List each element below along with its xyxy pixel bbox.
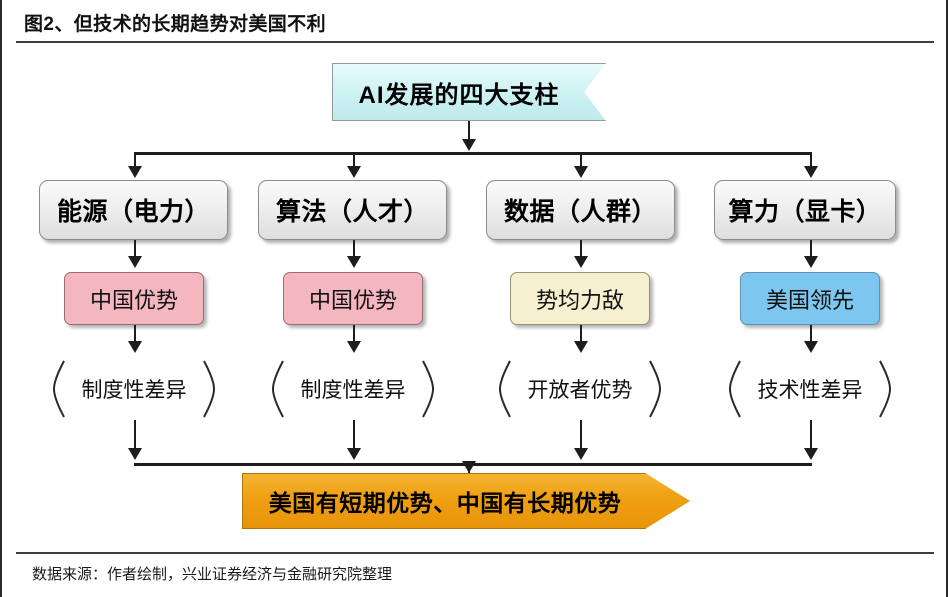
root-stem-arrow-icon [462, 139, 476, 151]
reason-to-bus-arrow-1-icon [128, 448, 142, 460]
conclusion-banner[interactable]: 美国有短期优势、中国有长期优势 [242, 473, 690, 529]
header-divider [16, 41, 934, 43]
reason-label-2: 制度性差异 [301, 374, 406, 404]
reason-to-bus-arrow-3-icon [574, 448, 588, 460]
conclusion-banner-label: 美国有短期优势、中国有长期优势 [269, 484, 622, 518]
pillar-label-1: 能源（电力） [57, 192, 210, 228]
reason-to-bus-arrow-4-icon [804, 448, 818, 460]
status-box-1[interactable]: 中国优势 [64, 272, 204, 325]
reason-bracket-2: 制度性差异 [269, 360, 437, 418]
drop-arrow-3-icon [574, 166, 588, 178]
footer-divider [16, 552, 934, 554]
figure-container: 图2、但技术的长期趋势对美国不利 AI发展的四大支柱 能源（电力） 中国优势 [0, 0, 948, 597]
pillar-label-3: 数据（人群） [504, 192, 657, 228]
reason-label-4: 技术性差异 [758, 374, 863, 404]
status-to-reason-arrow-1-icon [128, 341, 142, 353]
status-label-2: 中国优势 [309, 283, 397, 315]
pillar-label-2: 算法（人才） [276, 192, 429, 228]
angle-bracket-right-icon-3 [648, 360, 664, 418]
pillar-box-2[interactable]: 算法（人才） [258, 180, 447, 240]
reason-label-1: 制度性差异 [82, 374, 187, 404]
pillar-label-4: 算力（显卡） [728, 192, 881, 228]
root-banner-label: AI发展的四大支柱 [359, 75, 560, 110]
angle-bracket-right-icon-4 [878, 360, 894, 418]
pillar-to-status-arrow-4-icon [804, 256, 818, 268]
status-box-4[interactable]: 美国领先 [740, 272, 880, 325]
reason-bracket-1: 制度性差异 [50, 360, 218, 418]
root-banner[interactable]: AI发展的四大支柱 [332, 63, 606, 121]
status-to-reason-arrow-3-icon [574, 341, 588, 353]
drop-arrow-1-icon [128, 166, 142, 178]
pillar-box-4[interactable]: 算力（显卡） [714, 180, 896, 240]
status-label-1: 中国优势 [90, 283, 178, 315]
reason-to-bus-arrow-2-icon [347, 448, 361, 460]
pillar-box-3[interactable]: 数据（人群） [486, 180, 675, 240]
page-title: 图2、但技术的长期趋势对美国不利 [24, 9, 326, 36]
reason-to-bus-line-1 [134, 420, 136, 450]
reason-bracket-4: 技术性差异 [726, 360, 894, 418]
reason-label-3: 开放者优势 [528, 374, 633, 404]
diagram-canvas: AI发展的四大支柱 能源（电力） 中国优势 制度性差异 [2, 44, 946, 550]
status-box-3[interactable]: 势均力敌 [510, 272, 650, 325]
figure-header: 图2、但技术的长期趋势对美国不利 [2, 0, 946, 44]
status-label-4: 美国领先 [766, 283, 854, 315]
reason-to-bus-line-4 [810, 420, 812, 450]
angle-bracket-left-icon-2 [269, 360, 285, 418]
pillar-to-status-arrow-1-icon [128, 256, 142, 268]
reason-to-bus-line-3 [580, 420, 582, 450]
angle-bracket-left-icon-1 [50, 360, 66, 418]
status-to-reason-arrow-4-icon [804, 341, 818, 353]
pillar-to-status-arrow-3-icon [574, 256, 588, 268]
status-to-reason-arrow-2-icon [347, 341, 361, 353]
angle-bracket-right-icon-2 [421, 360, 437, 418]
drop-arrow-2-icon [347, 166, 361, 178]
status-label-3: 势均力敌 [536, 283, 624, 315]
pillar-to-status-arrow-2-icon [347, 256, 361, 268]
pillar-box-1[interactable]: 能源（电力） [39, 180, 228, 240]
angle-bracket-right-icon-1 [202, 360, 218, 418]
status-box-2[interactable]: 中国优势 [283, 272, 423, 325]
root-stem-line [468, 121, 470, 141]
drop-arrow-4-icon [804, 166, 818, 178]
conclusion-stem-arrow-icon [462, 461, 476, 473]
distribution-bus [134, 152, 812, 155]
angle-bracket-left-icon-4 [726, 360, 742, 418]
source-note: 数据来源：作者绘制，兴业证券经济与金融研究院整理 [32, 563, 392, 584]
angle-bracket-left-icon-3 [496, 360, 512, 418]
reason-bracket-3: 开放者优势 [496, 360, 664, 418]
reason-to-bus-line-2 [353, 420, 355, 450]
